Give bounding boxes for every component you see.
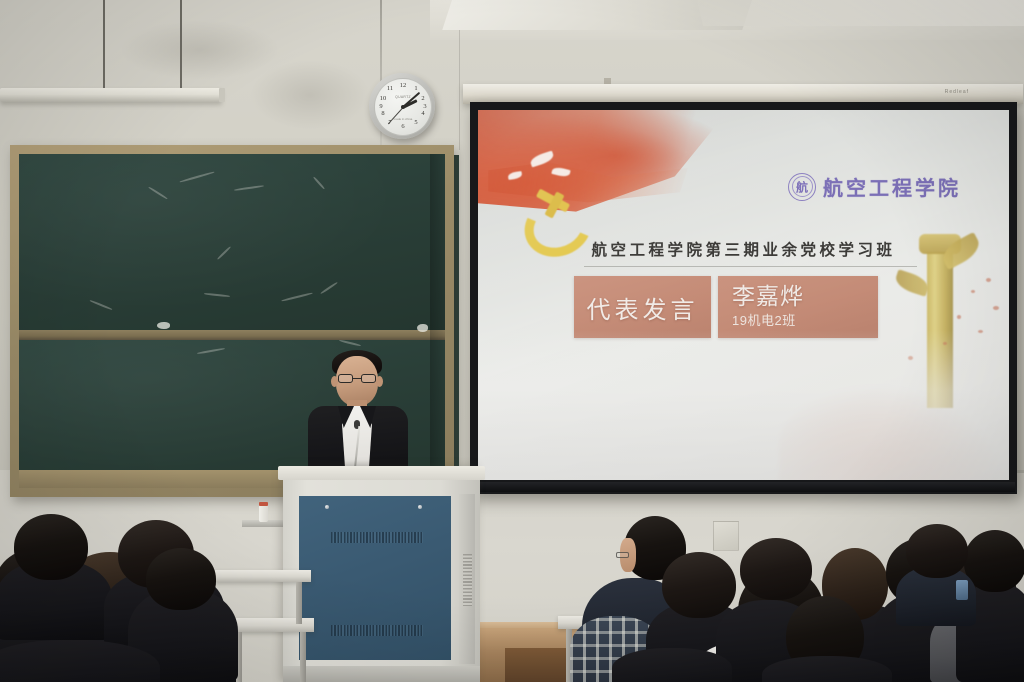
desk-leg — [300, 632, 306, 682]
light-rod — [180, 0, 182, 90]
slide-title-rule — [584, 266, 917, 267]
desk-leg — [296, 582, 302, 624]
projection-screen-surface: 航 航空工程学院 航空工程学院第三期业余党校学习班 代表发言 李嘉烨 19机电2… — [478, 110, 1009, 480]
clock-face: 12 1 2 3 4 5 6 7 8 9 10 11 QUARTZ made i… — [374, 78, 432, 136]
classroom-photo: 12 1 2 3 4 5 6 7 8 9 10 11 QUARTZ made i… — [0, 0, 1024, 682]
lectern-side-vent — [463, 554, 472, 606]
lectern-base — [283, 666, 480, 682]
lectern-top — [278, 466, 485, 480]
wall-outlet-box — [713, 521, 739, 551]
wall-clock: 12 1 2 3 4 5 6 7 8 9 10 11 QUARTZ made i… — [369, 73, 435, 139]
screen-weight-bar — [472, 482, 1015, 492]
school-logo-text: 航空工程学院 — [823, 172, 961, 201]
petal-particle — [971, 290, 975, 293]
lectern-front-panel — [299, 496, 451, 660]
school-logo-emblem-icon: 航 — [788, 173, 816, 201]
smartphone — [956, 580, 968, 600]
presenter-glasses — [338, 374, 376, 383]
water-bottle — [259, 505, 268, 522]
slide-role-box: 代表发言 — [574, 276, 711, 338]
school-logo-mark: 航 — [796, 178, 808, 195]
slide-speaker-class: 19机电2班 — [732, 310, 796, 329]
clock-numeral: 8 — [377, 111, 389, 118]
wall-crack-secondary — [459, 30, 460, 150]
projection-screen: 航 航空工程学院 航空工程学院第三期业余党校学习班 代表发言 李嘉烨 19机电2… — [470, 102, 1017, 494]
clock-numeral: 11 — [384, 86, 396, 93]
slide-name-box: 李嘉烨 19机电2班 — [718, 276, 878, 338]
petal-particle — [993, 306, 999, 310]
projection-screen-housing: Redleaf — [463, 84, 1023, 104]
audience-glasses — [616, 552, 629, 558]
party-emblem-icon — [522, 188, 584, 242]
presenter-ear — [331, 376, 338, 387]
chalk-piece — [417, 324, 428, 332]
clock-numeral: 2 — [417, 96, 429, 103]
clock-numeral: 6 — [397, 124, 409, 131]
audience-head — [740, 538, 812, 600]
clock-numeral: 12 — [397, 83, 409, 90]
slide-speaker-banner: 代表发言 李嘉烨 19机电2班 — [574, 276, 878, 338]
ventilation-grille — [331, 532, 423, 543]
panel-screw — [325, 505, 329, 509]
blackboard-divider — [19, 330, 445, 340]
panel-screw — [418, 505, 422, 509]
clock-numeral: 10 — [377, 96, 389, 103]
clock-numeral: 4 — [417, 111, 429, 118]
fluorescent-light — [0, 88, 222, 102]
wall-smudge — [250, 60, 370, 130]
blackboard-panel-top — [19, 154, 445, 332]
presentation-slide: 航 航空工程学院 航空工程学院第三期业余党校学习班 代表发言 李嘉烨 19机电2… — [478, 110, 1009, 480]
chalk-piece — [157, 322, 170, 329]
clock-sub-text: made in china — [394, 117, 413, 121]
blackboard-shadow-strip — [430, 154, 445, 488]
lectern — [283, 466, 480, 682]
petal-particle — [957, 315, 961, 319]
clock-center-pin — [401, 105, 405, 109]
slide-role-label: 代表发言 — [587, 290, 699, 325]
student-desk — [215, 570, 311, 582]
clock-numeral: 1 — [410, 86, 422, 93]
school-logo: 航 航空工程学院 — [788, 172, 961, 201]
slide-cloud-band — [478, 330, 1009, 480]
audience-head — [146, 548, 216, 610]
clock-numeral: 9 — [375, 104, 387, 111]
audience-member — [612, 648, 732, 682]
wall-smudge — [120, 20, 280, 80]
ventilation-grille — [331, 625, 423, 636]
clock-brand-text: QUARTZ — [395, 95, 411, 99]
slide-speaker-name: 李嘉烨 — [732, 285, 804, 309]
petal-particle — [986, 278, 991, 282]
bottle-cap — [259, 502, 268, 506]
audience-head — [662, 552, 736, 618]
audience-head — [14, 514, 88, 580]
presenter — [300, 350, 420, 480]
screen-brand-label: Redleaf — [945, 89, 969, 95]
light-rod — [103, 0, 105, 90]
ceiling-seam-secondary — [697, 0, 1024, 26]
audience-head — [906, 524, 968, 578]
presenter-ear — [376, 376, 383, 387]
audience-member — [762, 656, 892, 682]
